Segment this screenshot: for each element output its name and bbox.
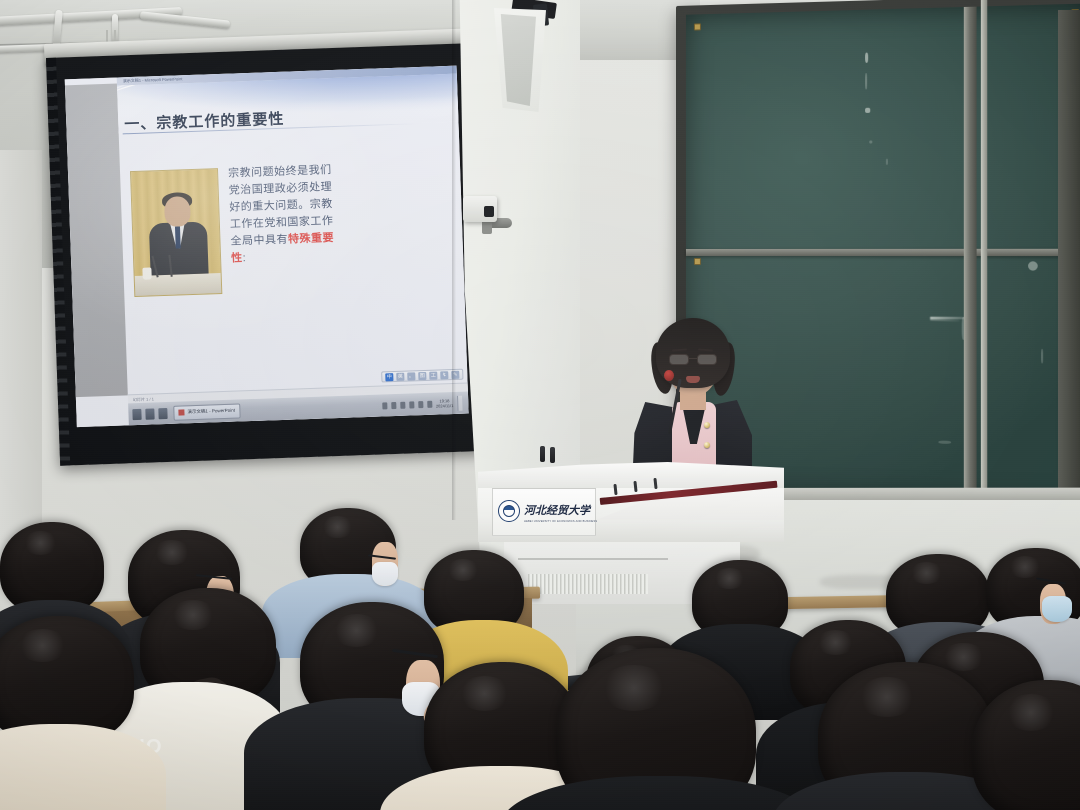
audience: UDIO COLLECTION xyxy=(0,500,1080,810)
frame-screw-icon xyxy=(694,23,701,30)
start-button-icon[interactable] xyxy=(132,408,141,419)
ime-key[interactable]: 中 xyxy=(385,373,393,381)
presenter xyxy=(628,318,756,486)
explorer-icon[interactable] xyxy=(145,408,154,419)
ime-key[interactable]: 。 xyxy=(407,372,415,380)
slide-body-text: 宗教问题始终是我们 党治国理政必须处理 好的重大问题。宗教 工作在党和国家工作 … xyxy=(228,161,363,268)
tray-icon[interactable] xyxy=(400,401,405,408)
taskbar-app-powerpoint[interactable]: 演示文稿1 - PowerPoint xyxy=(173,403,240,420)
taskbar-app-label: 演示文稿1 - PowerPoint xyxy=(187,408,235,416)
ime-key[interactable]: 工 xyxy=(429,371,437,379)
projection-surface: 演示文稿1 - Microsoft PowerPoint 一、宗教工作的重要性 xyxy=(65,66,469,427)
presenter-mouth xyxy=(686,376,700,383)
lecture-hall-photograph: 演示文稿1 - Microsoft PowerPoint 一、宗教工作的重要性 xyxy=(0,0,1080,810)
blackboard-center-rail[interactable] xyxy=(964,7,977,501)
jacket-button-icon xyxy=(704,422,710,428)
ime-key[interactable]: 英 xyxy=(396,372,404,380)
blackboard-rail xyxy=(686,249,1080,256)
slide-highlight: 性 xyxy=(231,252,243,264)
camera-mount xyxy=(482,220,492,234)
desk-object xyxy=(550,447,555,463)
blackboard-right-edge xyxy=(1058,10,1080,490)
powerpoint-icon xyxy=(178,409,184,415)
glasses-icon xyxy=(668,354,718,365)
jacket-button-icon xyxy=(704,442,710,448)
network-icon[interactable] xyxy=(427,400,432,407)
media-icon[interactable] xyxy=(158,407,167,418)
ime-key[interactable]: 图 xyxy=(418,371,426,379)
show-desktop-button[interactable] xyxy=(457,395,463,410)
desk-object xyxy=(540,446,545,462)
slide-photo xyxy=(130,168,222,297)
tray-icon[interactable] xyxy=(409,401,414,408)
blackboard-panel-edge[interactable] xyxy=(981,0,987,507)
tray-icon[interactable] xyxy=(382,402,387,409)
slide-highlight: 特殊重要 xyxy=(288,232,334,246)
clock-date: 2024/11/1 xyxy=(436,403,454,409)
powerpoint-slide: 演示文稿1 - Microsoft PowerPoint 一、宗教工作的重要性 xyxy=(65,66,469,427)
wall-column-edge xyxy=(452,0,456,520)
frame-screw-icon xyxy=(694,258,701,265)
ime-key[interactable]: ↯ xyxy=(440,371,448,379)
taskbar-clock[interactable]: 19:18 2024/11/1 xyxy=(436,398,454,409)
volume-icon[interactable] xyxy=(418,401,423,408)
face-mask xyxy=(372,562,398,586)
camera-lens-icon xyxy=(484,206,494,217)
tray-icon[interactable] xyxy=(391,402,396,409)
face-mask xyxy=(1042,596,1072,622)
microphone-icon xyxy=(664,370,674,381)
projection-screen: 演示文稿1 - Microsoft PowerPoint 一、宗教工作的重要性 xyxy=(46,43,490,466)
